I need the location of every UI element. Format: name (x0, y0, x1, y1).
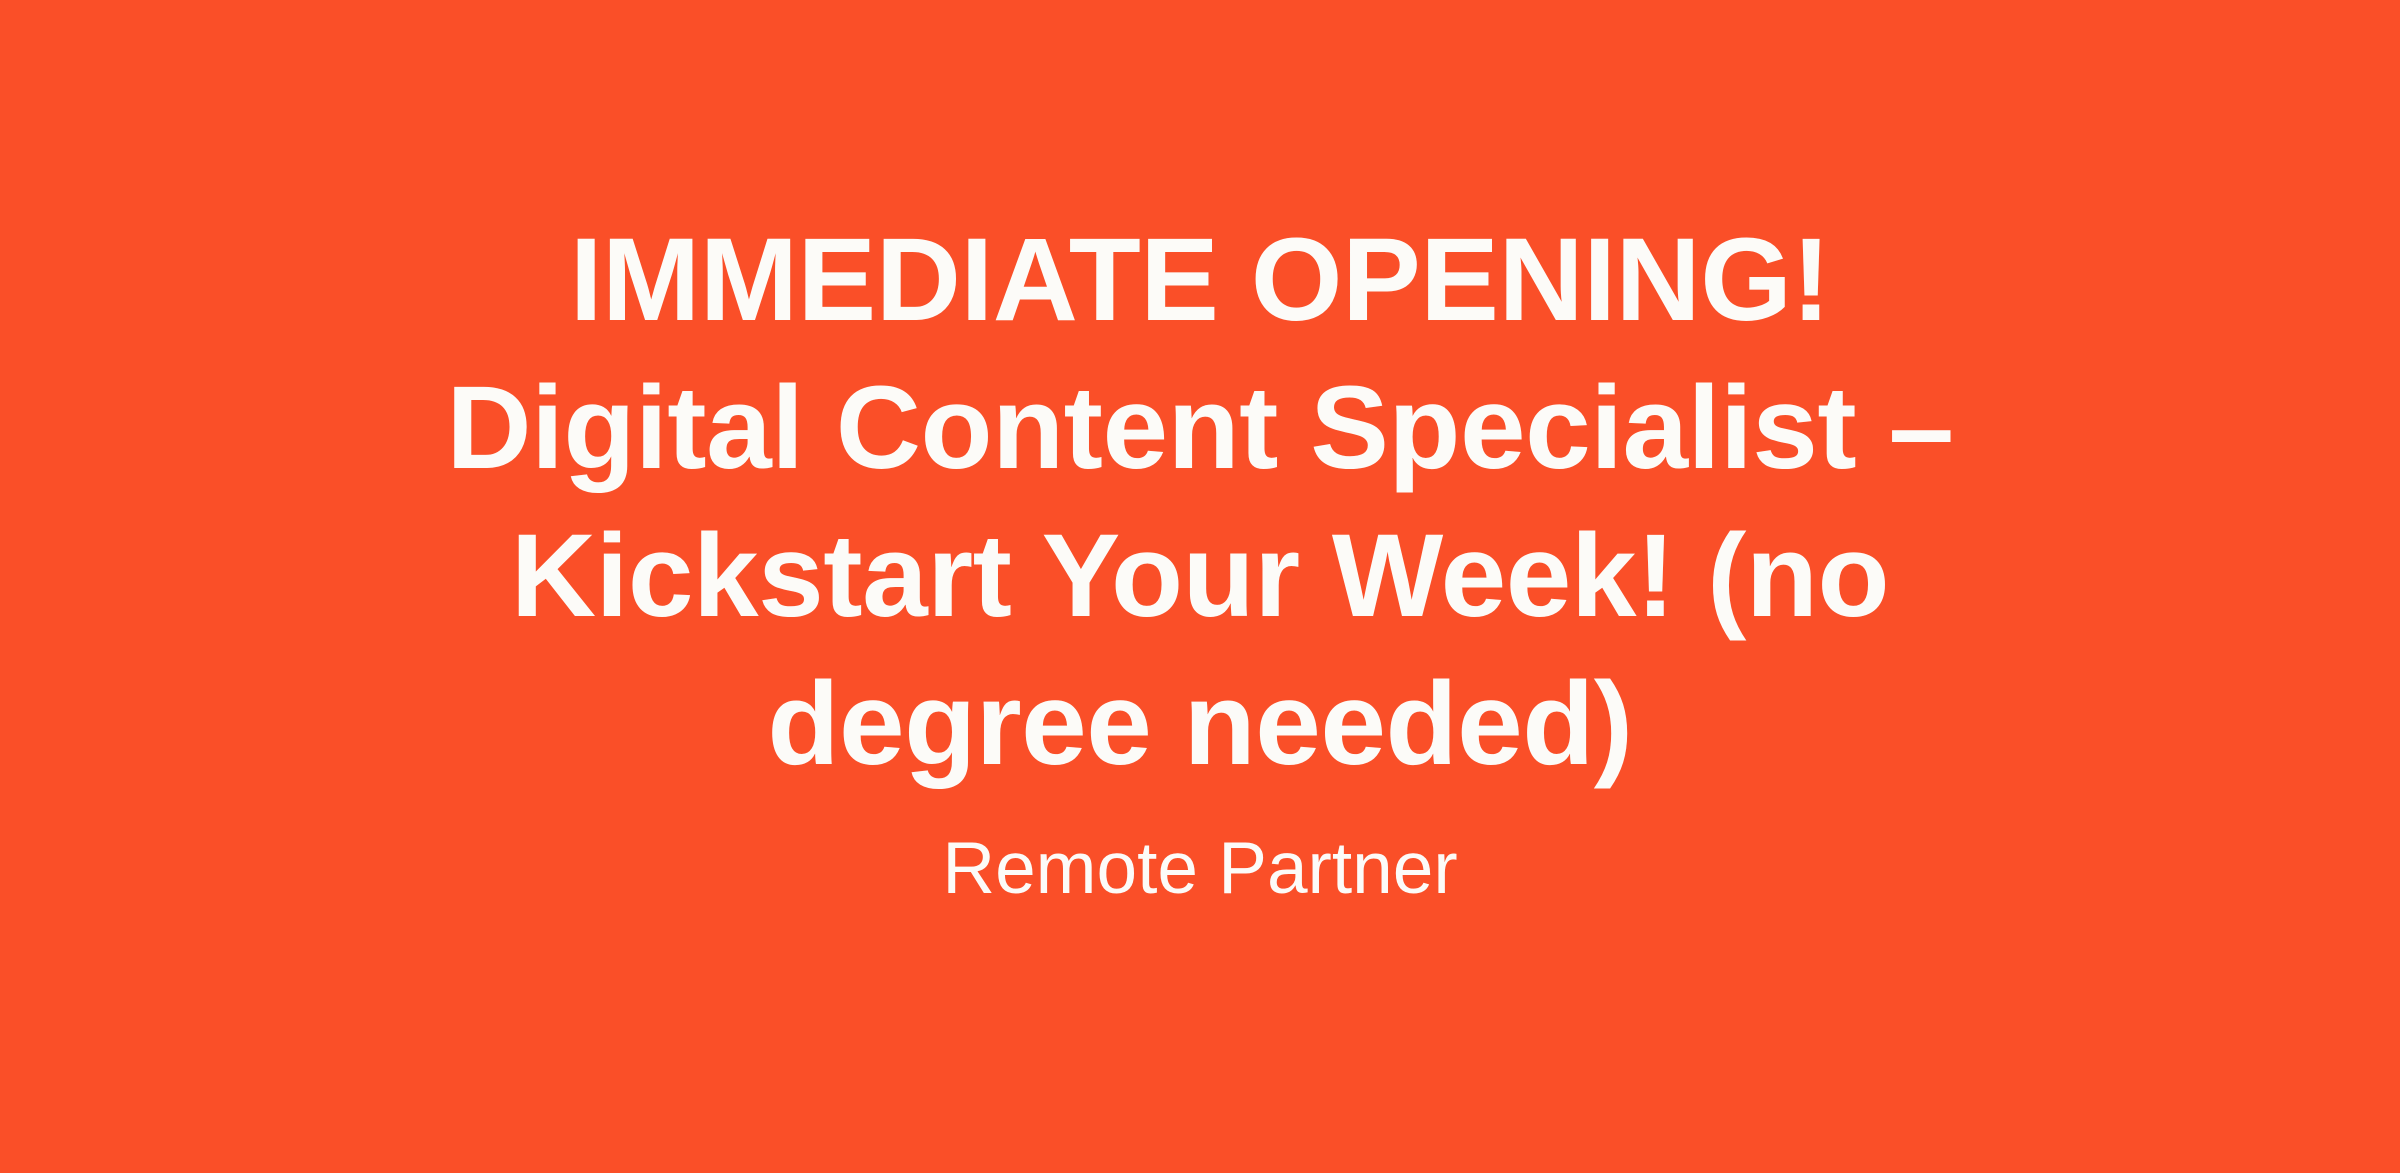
poster-content-block: IMMEDIATE OPENING! Digital Content Speci… (380, 0, 2020, 912)
poster-subtitle: Remote Partner (942, 798, 1457, 912)
page-title: IMMEDIATE OPENING! Digital Content Speci… (380, 206, 2020, 798)
job-posting-poster: IMMEDIATE OPENING! Digital Content Speci… (0, 0, 2400, 1173)
